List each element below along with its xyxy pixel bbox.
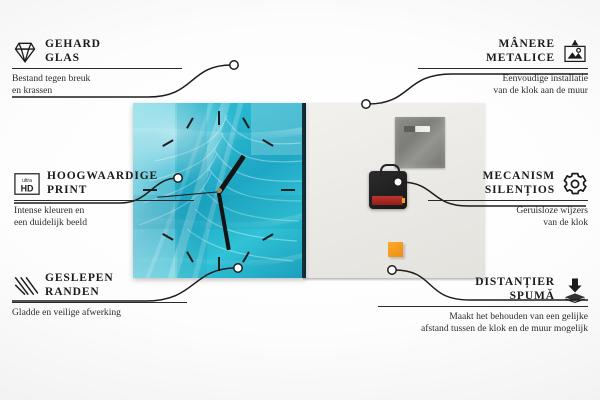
quartz-movement bbox=[369, 171, 407, 209]
callout-title-line2: RANDEN bbox=[45, 286, 114, 300]
callout-title-line1: MECANISM bbox=[483, 170, 555, 184]
clock-tick bbox=[218, 111, 220, 125]
callout-desc-line1: Geruisloze wijzers bbox=[428, 205, 588, 217]
callout-mecanism-silentios: MECANISM SILENȚIOS Geruisloze wijzers va… bbox=[428, 170, 588, 228]
callout-desc-line1: Gladde en veilige afwerking bbox=[12, 307, 187, 319]
callout-title-line1: MÂNERE bbox=[486, 38, 555, 52]
metal-hanger-plate bbox=[395, 117, 445, 168]
orange-foam-spacer bbox=[388, 242, 403, 257]
svg-text:HD: HD bbox=[21, 183, 34, 193]
callout-gehard-glas: GEHARD GLAS Bestand tegen breuk en krass… bbox=[12, 38, 182, 96]
glass-thickness-edge bbox=[302, 103, 306, 278]
callout-desc-line1: Intense kleuren en bbox=[14, 205, 194, 217]
callout-divider bbox=[14, 200, 194, 201]
callout-desc-line2: een duidelijk beeld bbox=[14, 217, 194, 229]
diamond-icon bbox=[12, 39, 38, 65]
callout-divider bbox=[12, 302, 187, 303]
callout-title-line1: HOOGWAARDIGE bbox=[47, 170, 158, 184]
ultra-hd-icon: ultra HD bbox=[14, 171, 40, 197]
clock-tick bbox=[281, 189, 295, 191]
callout-divider bbox=[378, 306, 588, 307]
leader-endpoint bbox=[230, 61, 238, 69]
hanger-slot bbox=[404, 126, 430, 132]
callout-desc-line1: Maakt het behouden van een gelijke bbox=[378, 311, 588, 323]
callout-desc-line2: van de klok aan de muur bbox=[418, 85, 588, 97]
aa-battery bbox=[372, 196, 403, 205]
callout-title-line2: PRINT bbox=[47, 184, 158, 198]
callout-hoogwaardige-print: ultra HD HOOGWAARDIGE PRINT Intense kleu… bbox=[14, 170, 194, 228]
callout-distantier-spuma: DISTANȚIER SPUMĂ Maakt het behouden van … bbox=[378, 276, 588, 334]
press-pad-icon bbox=[562, 277, 588, 303]
callout-geslepen-randen: GESLEPEN RANDEN Gladde en veilige afwerk… bbox=[12, 272, 187, 319]
clock-hub bbox=[217, 188, 222, 193]
callout-desc-line1: Eenvoudige installatie bbox=[418, 73, 588, 85]
callout-divider bbox=[418, 68, 588, 69]
callout-desc-line2: en krassen bbox=[12, 85, 182, 97]
callout-desc-line2: van de klok bbox=[428, 217, 588, 229]
infographic-canvas: GEHARD GLAS Bestand tegen breuk en krass… bbox=[0, 0, 600, 400]
callout-title-line2: METALICE bbox=[486, 52, 555, 66]
hanging-picture-icon bbox=[562, 39, 588, 65]
callout-title-line2: SILENȚIOS bbox=[483, 184, 555, 198]
callout-manere-metalice: MÂNERE METALICE Eenvoudige installatie v… bbox=[418, 38, 588, 96]
callout-title-line1: DISTANȚIER bbox=[475, 276, 555, 290]
gear-icon bbox=[562, 171, 588, 197]
beveled-edges-icon bbox=[12, 273, 38, 299]
callout-title-line1: GESLEPEN bbox=[45, 272, 114, 286]
callout-title-line1: GEHARD bbox=[45, 38, 101, 52]
callout-divider bbox=[428, 200, 588, 201]
callout-title-line2: SPUMĂ bbox=[475, 290, 555, 304]
callout-desc-line1: Bestand tegen breuk bbox=[12, 73, 182, 85]
callout-divider bbox=[12, 68, 182, 69]
callout-desc-line2: afstand tussen de klok en de muur mogeli… bbox=[378, 323, 588, 335]
callout-title-line2: GLAS bbox=[45, 52, 101, 66]
clock-tick bbox=[218, 257, 220, 271]
hanger-loop bbox=[380, 164, 400, 176]
